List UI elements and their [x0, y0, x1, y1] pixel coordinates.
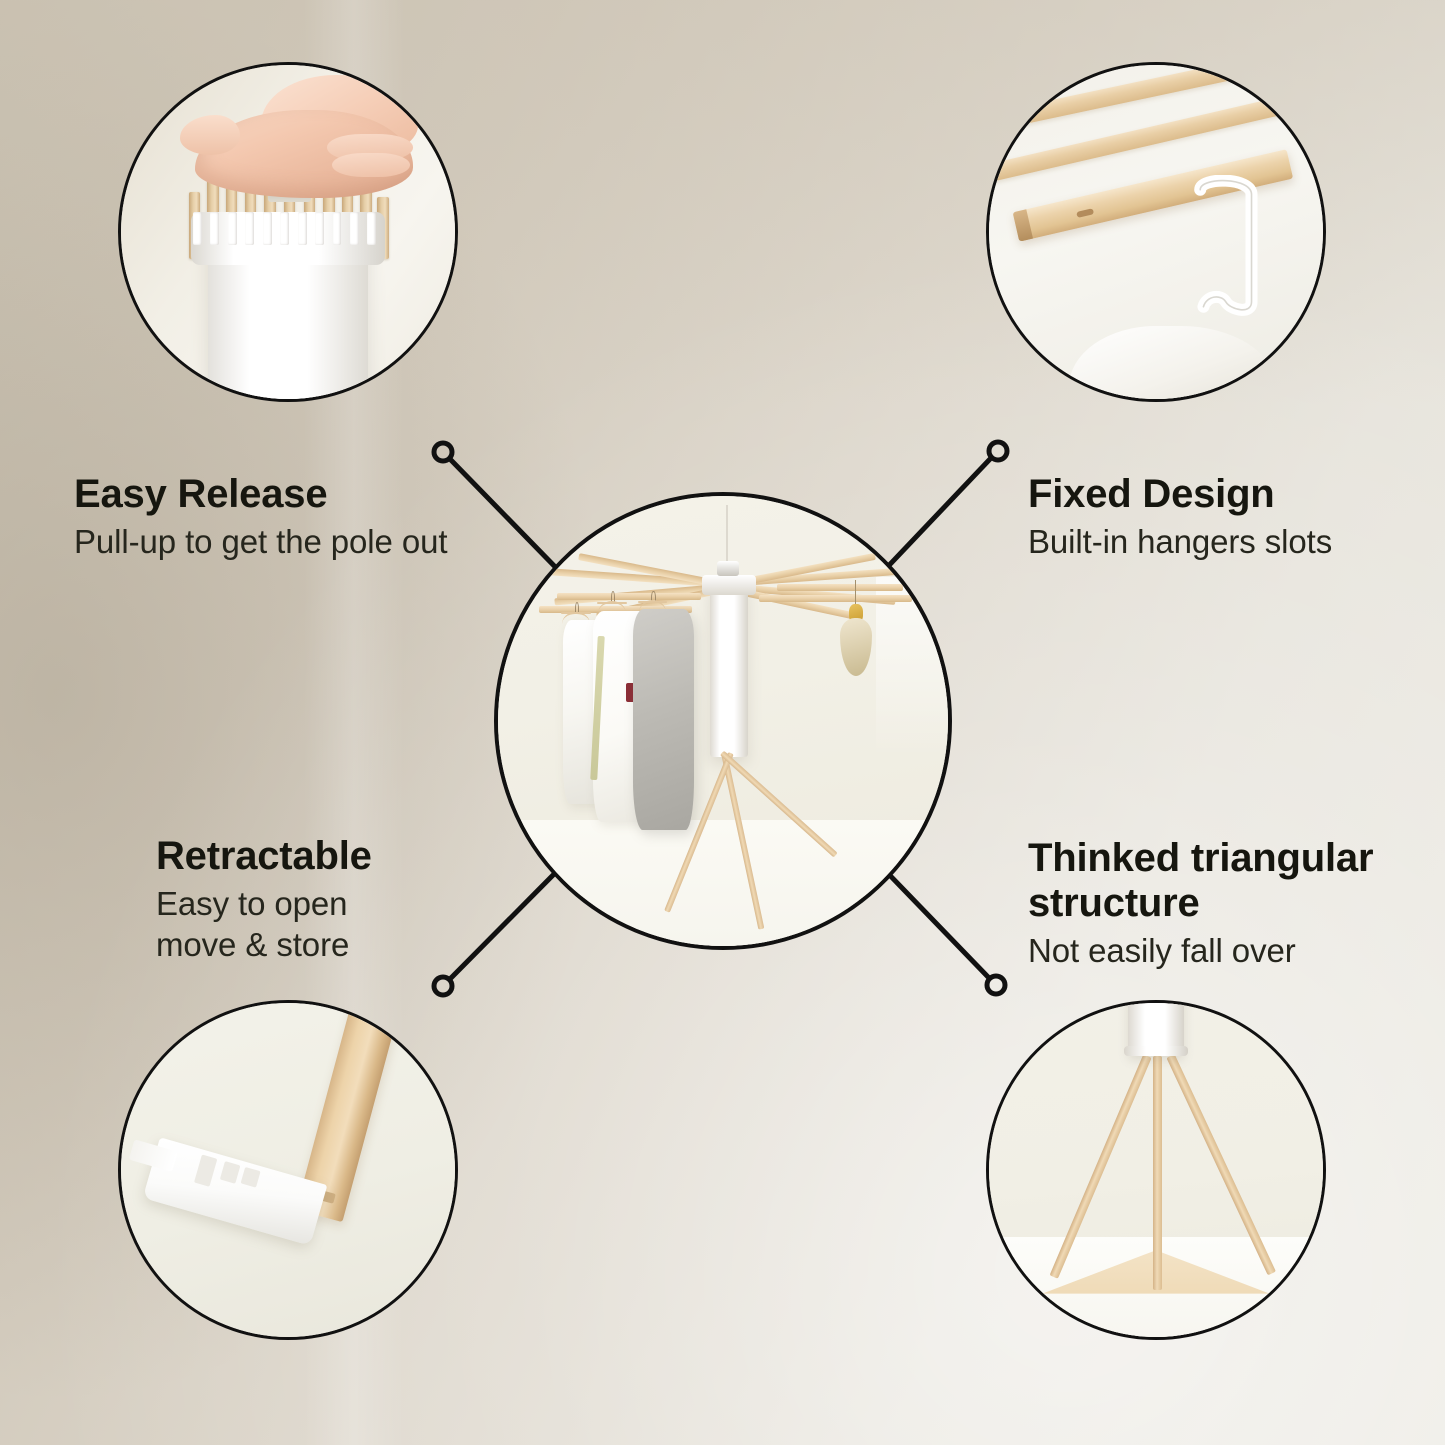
release-knob: [717, 561, 740, 576]
connector-ring-fixed-design: [989, 442, 1007, 460]
collar-teeth: [191, 212, 385, 265]
rack-hub: [702, 575, 756, 596]
tripod-leg: [1153, 1056, 1162, 1290]
feature-photo-easy-release: [118, 62, 458, 402]
dried-flower-bunch: [838, 604, 874, 676]
feature-subtitle: Not easily fall over: [1028, 930, 1428, 971]
infographic-canvas: Easy Release Pull-up to get the pole out…: [0, 0, 1445, 1445]
rack-column: [710, 586, 748, 757]
feature-subtitle: Built-in hangers slots: [1028, 521, 1428, 562]
feature-title: Retractable: [156, 834, 556, 879]
feature-subtitle: Easy to open move & store: [156, 883, 556, 965]
feature-subtitle: Pull-up to get the pole out: [74, 521, 544, 562]
hand: [174, 75, 428, 209]
floor: [498, 820, 948, 946]
garment-grey-shirt: [633, 609, 694, 830]
connector-ring-triangular: [987, 976, 1005, 994]
feature-title: Fixed Design: [1028, 472, 1428, 517]
feature-label-triangular-structure: Thinked triangular structure Not easily …: [1028, 836, 1428, 971]
feature-photo-fixed-design: [986, 62, 1326, 402]
rack-crossbar: [759, 595, 912, 602]
feature-photo-retractable: [118, 1000, 458, 1340]
connector-ring-retractable: [434, 977, 452, 995]
feature-label-fixed-design: Fixed Design Built-in hangers slots: [1028, 472, 1428, 562]
connector-ring-easy-release: [434, 443, 452, 461]
feature-label-retractable: Retractable Easy to open move & store: [156, 834, 556, 965]
feature-title: Thinked triangular structure: [1028, 836, 1428, 926]
ceiling-stem: [726, 505, 728, 564]
rack-crossbar: [557, 593, 701, 600]
feature-label-easy-release: Easy Release Pull-up to get the pole out: [74, 472, 544, 562]
hanger-slot: [1076, 208, 1094, 218]
rack-column: [1128, 1003, 1185, 1056]
hanger-hook-icon: [1189, 175, 1269, 349]
feature-photo-triangular-structure: [986, 1000, 1326, 1340]
rack-crossbar: [777, 584, 903, 591]
feature-title: Easy Release: [74, 472, 544, 517]
window-light: [876, 577, 948, 757]
center-product-photo: [494, 492, 952, 950]
